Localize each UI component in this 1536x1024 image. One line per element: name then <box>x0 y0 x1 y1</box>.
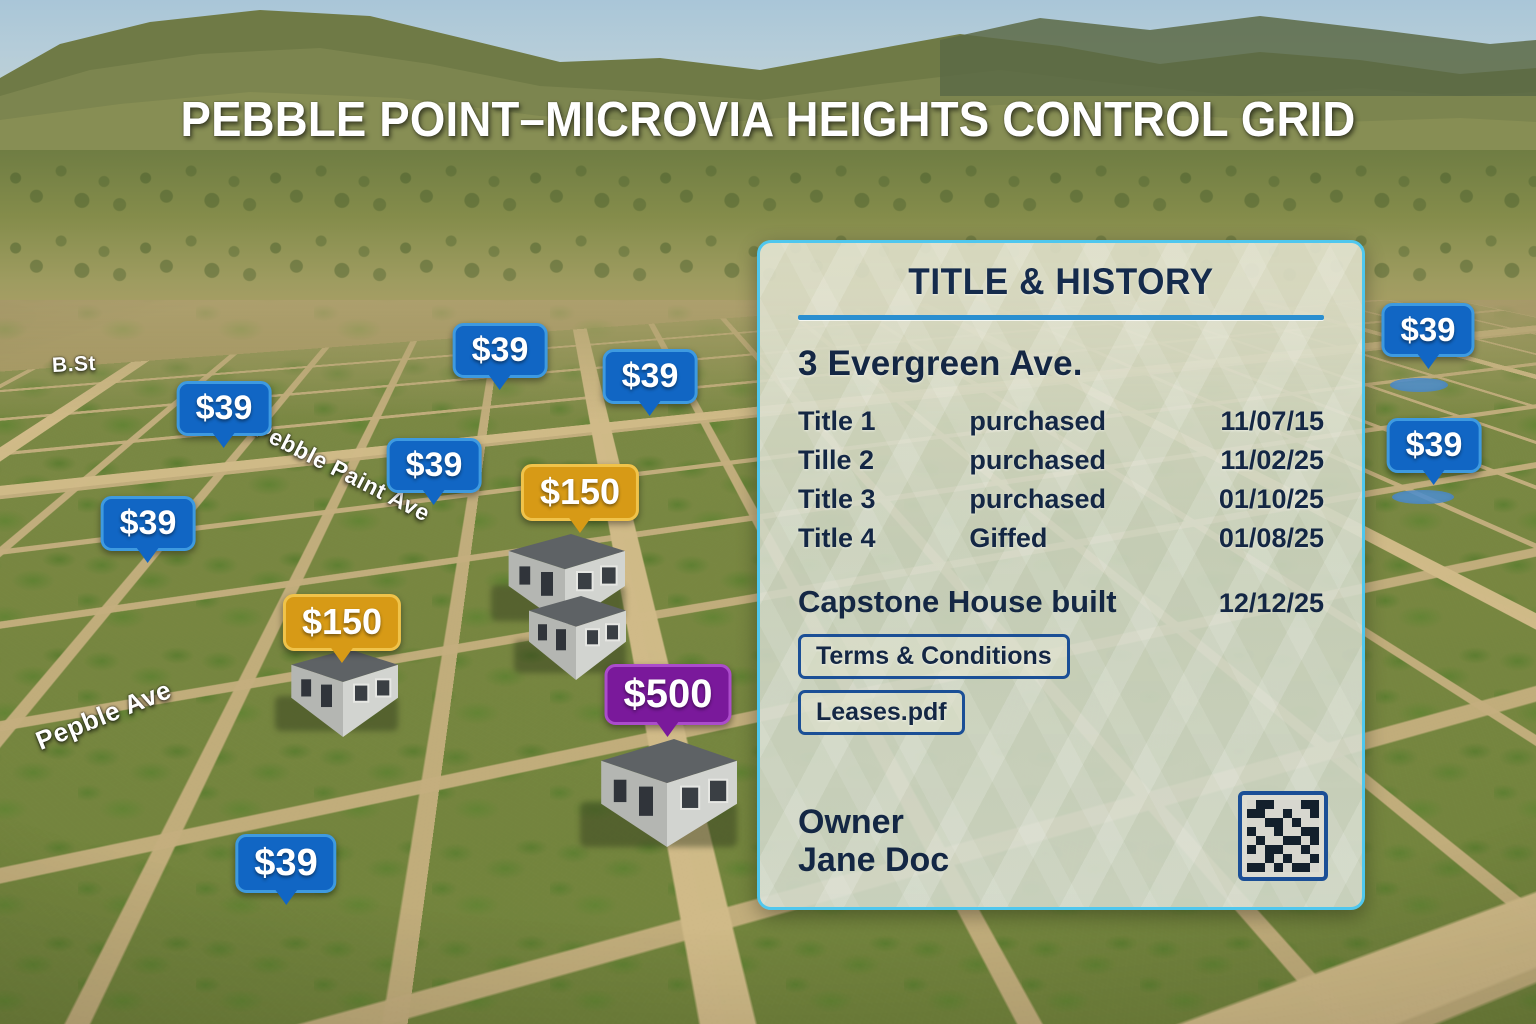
price-marker-label: $39 <box>603 349 698 404</box>
price-marker-label: $39 <box>1381 303 1474 357</box>
price-marker-pointer <box>487 372 513 390</box>
capstone-built-date: 12/12/25 <box>1219 588 1324 619</box>
qr-code-icon[interactable] <box>1238 791 1328 881</box>
house-capstone[interactable] <box>597 735 737 855</box>
owner-block: Owner Jane Doc <box>798 803 949 879</box>
price-marker-pointer <box>273 887 299 905</box>
price-marker-pointer <box>637 398 663 416</box>
price-marker-label: $150 <box>283 594 401 651</box>
price-marker[interactable]: $39 <box>101 496 196 551</box>
history-title: Title 1 <box>798 402 969 441</box>
owner-label: Owner <box>798 803 949 841</box>
price-marker[interactable]: $39 <box>603 349 698 404</box>
price-marker[interactable]: $39 <box>387 438 482 493</box>
scene-root: B.StPebble Paint AvePepble Ave $39$39$39… <box>0 0 1536 1024</box>
price-marker-pointer <box>567 515 593 533</box>
price-marker-pointer <box>1421 467 1447 485</box>
price-marker-label: $500 <box>605 664 732 725</box>
capstone-built-row: Capstone House built 12/12/25 <box>798 584 1324 620</box>
history-row: Tille 2purchased11/02/25 <box>798 441 1324 480</box>
price-marker-label: $39 <box>177 381 272 436</box>
history-date: 11/07/15 <box>1219 402 1324 441</box>
price-marker[interactable]: $39 <box>1381 303 1474 357</box>
history-table: Title 1purchased11/07/15Tille 2purchased… <box>798 402 1324 558</box>
price-marker[interactable]: $500 <box>605 664 732 725</box>
price-marker-pointer <box>421 487 447 505</box>
property-address: 3 Evergreen Ave. <box>798 344 1324 384</box>
history-row: Title 1purchased11/07/15 <box>798 402 1324 441</box>
price-marker-pointer <box>655 719 681 737</box>
history-action: purchased <box>969 480 1218 519</box>
history-title: Tille 2 <box>798 441 969 480</box>
panel-heading: TITLE & HISTORY <box>811 261 1311 303</box>
price-marker-label: $39 <box>387 438 482 493</box>
price-marker-pointer <box>135 545 161 563</box>
documents-list: Terms & Conditions Leases.pdf <box>798 634 1324 746</box>
price-marker[interactable]: $39 <box>1387 418 1482 473</box>
price-marker-label: $39 <box>101 496 196 551</box>
price-marker[interactable]: $39 <box>453 323 548 378</box>
price-marker-label: $39 <box>453 323 548 378</box>
history-action: purchased <box>969 402 1218 441</box>
history-date: 01/10/25 <box>1219 480 1324 519</box>
pond <box>1390 378 1448 392</box>
price-marker-label: $39 <box>235 834 336 893</box>
street-label: B.St <box>51 352 96 378</box>
pond <box>1392 490 1454 504</box>
history-date: 11/02/25 <box>1219 441 1324 480</box>
history-row: Title 4Giffed01/08/25 <box>798 519 1324 558</box>
history-action: Giffed <box>969 519 1218 558</box>
capstone-built-label: Capstone House built <box>798 584 1219 620</box>
history-title: Title 4 <box>798 519 969 558</box>
title-history-panel: TITLE & HISTORY 3 Evergreen Ave. Title 1… <box>757 240 1365 910</box>
terms-and-conditions-button[interactable]: Terms & Conditions <box>798 634 1070 679</box>
price-marker[interactable]: $150 <box>521 464 639 521</box>
price-marker[interactable]: $39 <box>235 834 336 893</box>
panel-divider <box>798 315 1324 320</box>
price-marker-label: $150 <box>521 464 639 521</box>
owner-name: Jane Doc <box>798 841 949 879</box>
price-marker-label: $39 <box>1387 418 1482 473</box>
price-marker-pointer <box>211 430 237 448</box>
leases-pdf-button[interactable]: Leases.pdf <box>798 690 965 735</box>
history-action: purchased <box>969 441 1218 480</box>
page-title: PEBBLE POINT–MICROVIA HEIGHTS CONTROL GR… <box>54 92 1482 148</box>
history-row: Title 3purchased01/10/25 <box>798 480 1324 519</box>
history-date: 01/08/25 <box>1219 519 1324 558</box>
price-marker[interactable]: $39 <box>177 381 272 436</box>
price-marker-pointer <box>329 645 355 663</box>
price-marker-pointer <box>1415 351 1441 369</box>
price-marker[interactable]: $150 <box>283 594 401 651</box>
history-title: Title 3 <box>798 480 969 519</box>
